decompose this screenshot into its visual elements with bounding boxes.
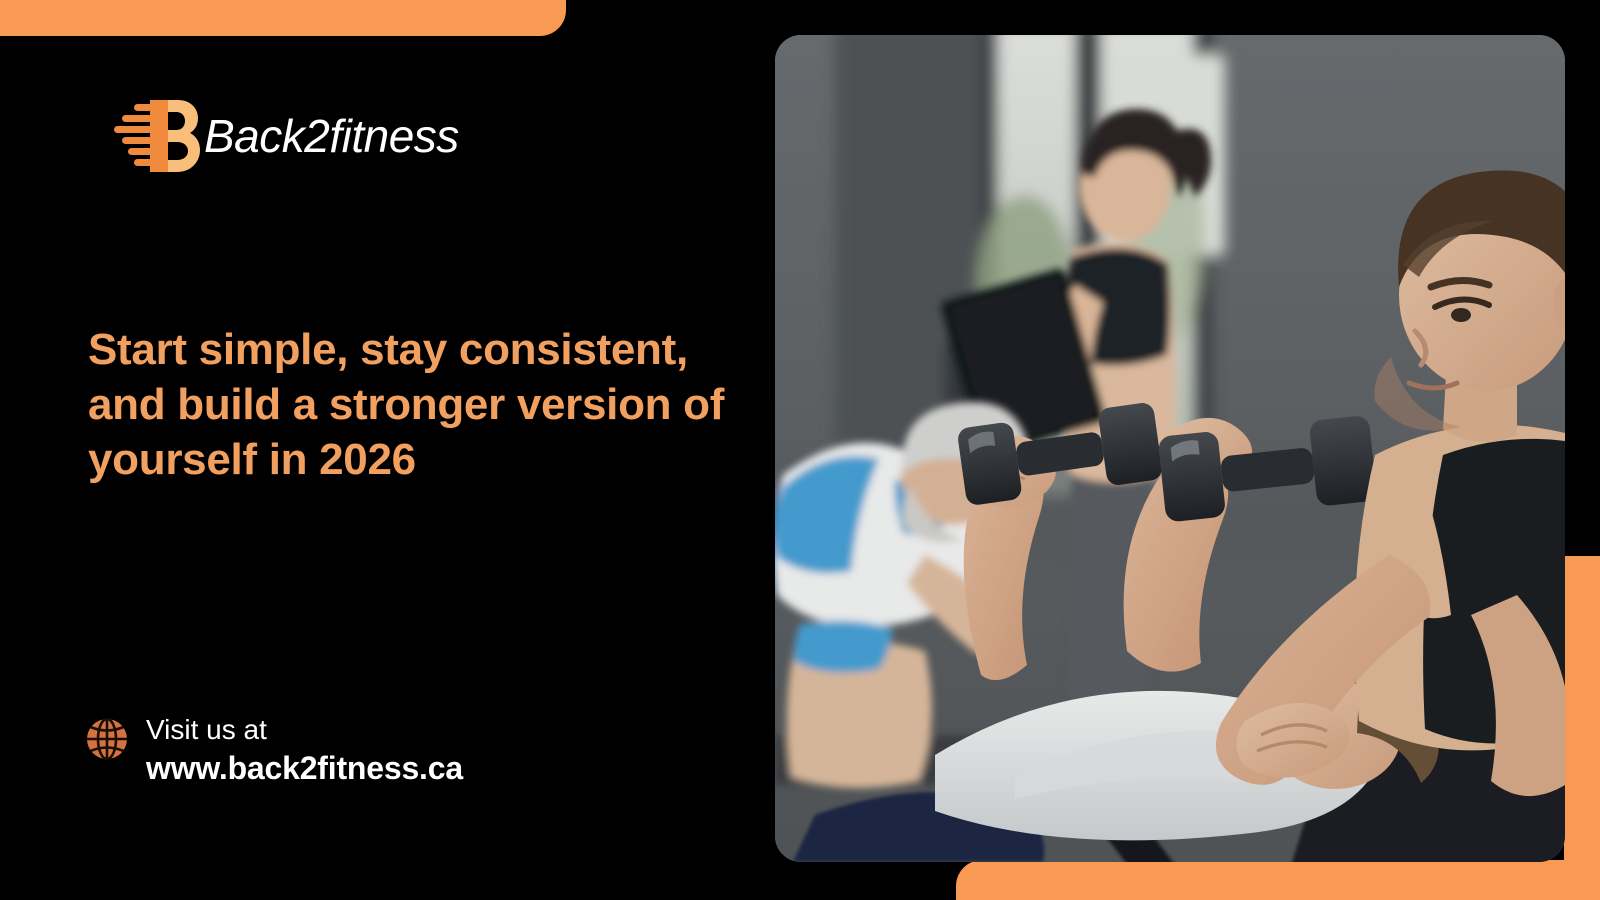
globe-icon bbox=[86, 712, 128, 760]
fitness-promo-banner: Back2fitness Start simple, stay consiste… bbox=[0, 0, 1600, 900]
accent-bar-right bbox=[1564, 556, 1600, 900]
headline-line-3: yourself in 2026 bbox=[88, 432, 738, 487]
visit-us-block[interactable]: Visit us at www.back2fitness.ca bbox=[86, 712, 463, 788]
headline-line-1: Start simple, stay consistent, bbox=[88, 322, 738, 377]
gym-training-photo bbox=[775, 35, 1565, 862]
headline-line-2: and build a stronger version of bbox=[88, 377, 738, 432]
headline: Start simple, stay consistent, and build… bbox=[88, 322, 738, 487]
visit-label: Visit us at bbox=[146, 712, 463, 748]
website-url[interactable]: www.back2fitness.ca bbox=[146, 748, 463, 788]
accent-bar-top-left bbox=[0, 0, 566, 36]
accent-bar-bottom bbox=[956, 860, 1600, 900]
brand-wordmark: Back2fitness bbox=[204, 113, 459, 159]
speed-b-logo-icon bbox=[108, 96, 200, 176]
brand-logo[interactable]: Back2fitness bbox=[108, 96, 459, 176]
